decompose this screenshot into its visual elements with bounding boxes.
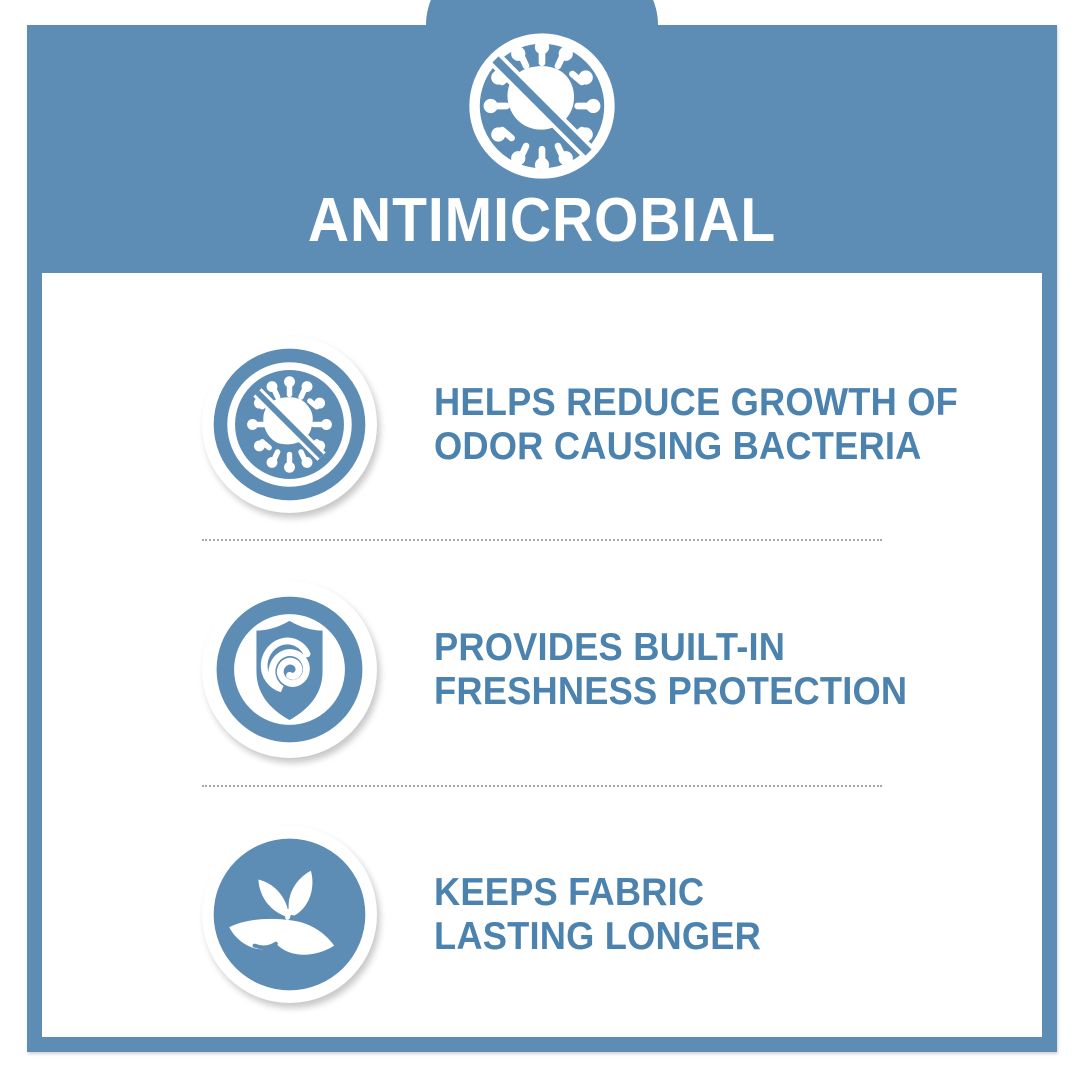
feature-line-1: PROVIDES BUILT-IN bbox=[434, 626, 907, 670]
feature-line-1: KEEPS FABRIC bbox=[434, 871, 761, 915]
leaf-sprout-icon bbox=[197, 823, 382, 1008]
shield-swirl-icon bbox=[197, 578, 382, 763]
list-item: HELPS REDUCE GROWTH OF ODOR CAUSING BACT… bbox=[42, 325, 1042, 525]
no-germ-icon bbox=[197, 333, 382, 518]
feature-line-2: ODOR CAUSING BACTERIA bbox=[434, 425, 958, 469]
feature-text: KEEPS FABRIC LASTING LONGER bbox=[434, 871, 761, 958]
divider bbox=[202, 539, 882, 541]
no-germ-icon bbox=[466, 30, 618, 182]
feature-line-1: HELPS REDUCE GROWTH OF bbox=[434, 381, 958, 425]
divider bbox=[202, 785, 882, 787]
list-item: PROVIDES BUILT-IN FRESHNESS PROTECTION bbox=[42, 570, 1042, 770]
antimicrobial-infographic: ANTIMICROBIAL bbox=[0, 0, 1080, 1080]
feature-list: HELPS REDUCE GROWTH OF ODOR CAUSING BACT… bbox=[42, 273, 1042, 1038]
header-band: ANTIMICROBIAL bbox=[27, 25, 1057, 273]
feature-line-2: FRESHNESS PROTECTION bbox=[434, 670, 907, 714]
list-item: KEEPS FABRIC LASTING LONGER bbox=[42, 815, 1042, 1015]
feature-text: PROVIDES BUILT-IN FRESHNESS PROTECTION bbox=[434, 626, 907, 713]
feature-line-2: LASTING LONGER bbox=[434, 915, 761, 959]
feature-text: HELPS REDUCE GROWTH OF ODOR CAUSING BACT… bbox=[434, 381, 958, 468]
page-title: ANTIMICROBIAL bbox=[68, 190, 1016, 252]
